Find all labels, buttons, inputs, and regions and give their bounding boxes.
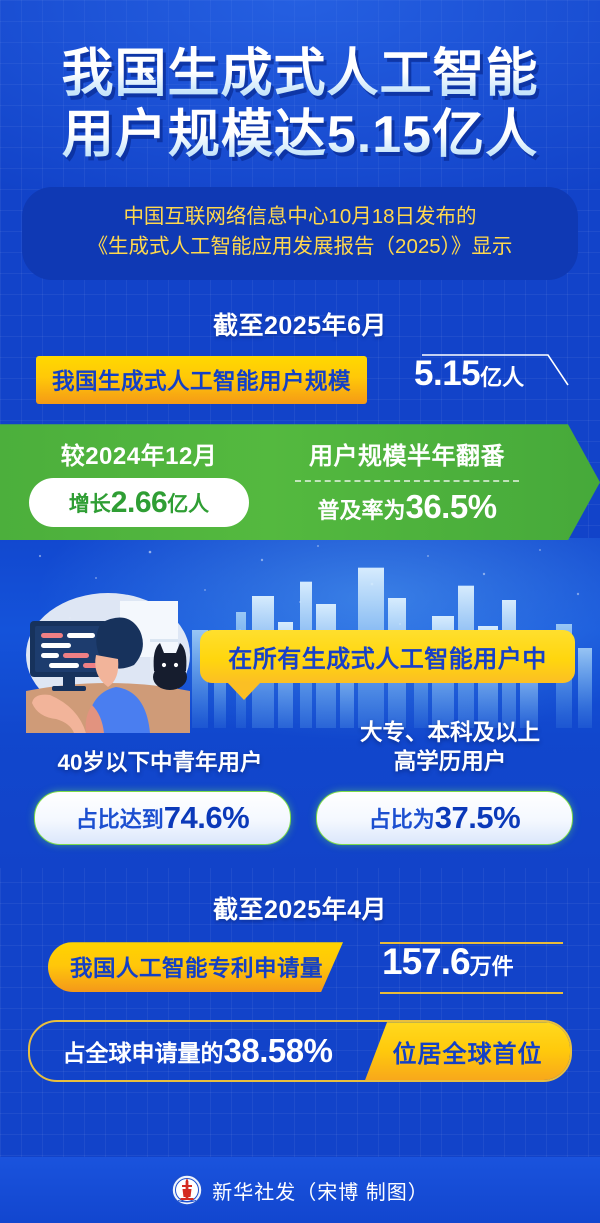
column-1-pill-prefix: 占比达到 <box>76 802 164 834</box>
patents-count-unit: 万件 <box>470 954 514 979</box>
penetration-prefix: 普及率为 <box>317 498 405 523</box>
growth-pill: 增长2.66亿人 <box>29 478 249 527</box>
patents-as-of-label: 截至2025年4月 <box>0 890 600 926</box>
growth-left-block: 较2024年12月 增长2.66亿人 <box>0 424 278 540</box>
column-2-label-line-2: 高学历用户 <box>310 747 590 776</box>
title-line-1: 我国生成式人工智能 <box>0 44 600 105</box>
dashed-divider <box>295 480 519 482</box>
global-share-number: 38.58% <box>224 1032 333 1070</box>
penetration-number: 36.5% <box>405 488 496 525</box>
patents-count-value: 157.6万件 <box>382 941 514 983</box>
users-scale-unit: 亿人 <box>480 365 524 390</box>
patents-section: 截至2025年4月 我国人工智能专利申请量 157.6万件 占全球申请量的38.… <box>0 868 600 1082</box>
subtitle-line-1: 中国互联网络信息中心10月18日发布的 <box>36 202 564 233</box>
column-2-label: 大专、本科及以上 高学历用户 <box>310 718 590 777</box>
footer-credit: 新华社发（宋博 制图） <box>212 1176 429 1205</box>
profile-banner: 在所有生成式人工智能用户中 <box>200 630 575 683</box>
users-scale-value: 5.15亿人 <box>414 354 524 394</box>
growth-arrow-banner: 较2024年12月 增长2.66亿人 用户规模半年翻番 普及率为36.5% <box>0 424 600 540</box>
patents-tag-row: 我国人工智能专利申请量 157.6万件 <box>0 942 600 1002</box>
column-1-pill: 占比达到74.6% <box>34 791 291 845</box>
subtitle-box: 中国互联网络信息中心10月18日发布的 《生成式人工智能应用发展报告（2025）… <box>22 187 578 281</box>
users-scale-tag: 我国生成式人工智能用户规模 <box>36 356 367 404</box>
person-at-computer-illustration <box>8 583 208 733</box>
global-share-prefix: 占全球申请量的 <box>63 1034 224 1068</box>
page-title: 我国生成式人工智能 用户规模达5.15亿人 <box>0 0 600 167</box>
growth-number: 2.66 <box>111 486 167 520</box>
column-2-pill: 占比为37.5% <box>316 791 573 845</box>
growth-compare-label: 较2024年12月 <box>0 424 278 471</box>
global-share-left: 占全球申请量的38.58% <box>30 1022 365 1080</box>
users-tag-row: 我国生成式人工智能用户规模 5.15亿人 <box>0 356 600 414</box>
penetration-value: 普及率为36.5% <box>278 488 536 526</box>
footer-bar: 新华社发（宋博 制图） <box>0 1157 600 1223</box>
title-line-2: 用户规模达5.15亿人 <box>0 105 600 166</box>
xinhua-agency-logo-icon <box>171 1174 203 1206</box>
global-rank-badge: 位居全球首位 <box>365 1022 570 1080</box>
user-profile-section: 在所有生成式人工智能用户中 40岁以下中青年用户 大专、本科及以上 高学历用户 … <box>0 538 600 868</box>
column-2-label-line-1: 大专、本科及以上 <box>310 718 590 747</box>
patents-count-tag: 我国人工智能专利申请量 <box>48 942 343 992</box>
growth-suffix: 亿人 <box>167 488 209 518</box>
patents-count-number: 157.6 <box>382 941 470 982</box>
growth-prefix: 增长 <box>69 488 111 518</box>
column-1-pill-number: 74.6% <box>164 800 249 836</box>
subtitle-line-2: 《生成式人工智能应用发展报告（2025）》显示 <box>36 232 564 263</box>
column-2-pill-number: 37.5% <box>435 800 520 836</box>
column-1-label: 40岁以下中青年用户 <box>20 748 300 777</box>
patents-rule-bottom <box>380 992 563 994</box>
global-share-bar: 占全球申请量的38.58% 位居全球首位 <box>28 1020 572 1082</box>
growth-right-block: 用户规模半年翻番 普及率为36.5% <box>278 424 536 540</box>
users-scale-number: 5.15 <box>414 354 480 393</box>
column-1-label-line-1: 40岁以下中青年用户 <box>20 748 300 777</box>
column-2-pill-prefix: 占比为 <box>369 802 435 834</box>
infographic-poster: 我国生成式人工智能 用户规模达5.15亿人 中国互联网络信息中心10月18日发布… <box>0 0 600 1223</box>
doubling-label: 用户规模半年翻番 <box>278 424 536 471</box>
users-as-of-label: 截至2025年6月 <box>0 306 600 342</box>
